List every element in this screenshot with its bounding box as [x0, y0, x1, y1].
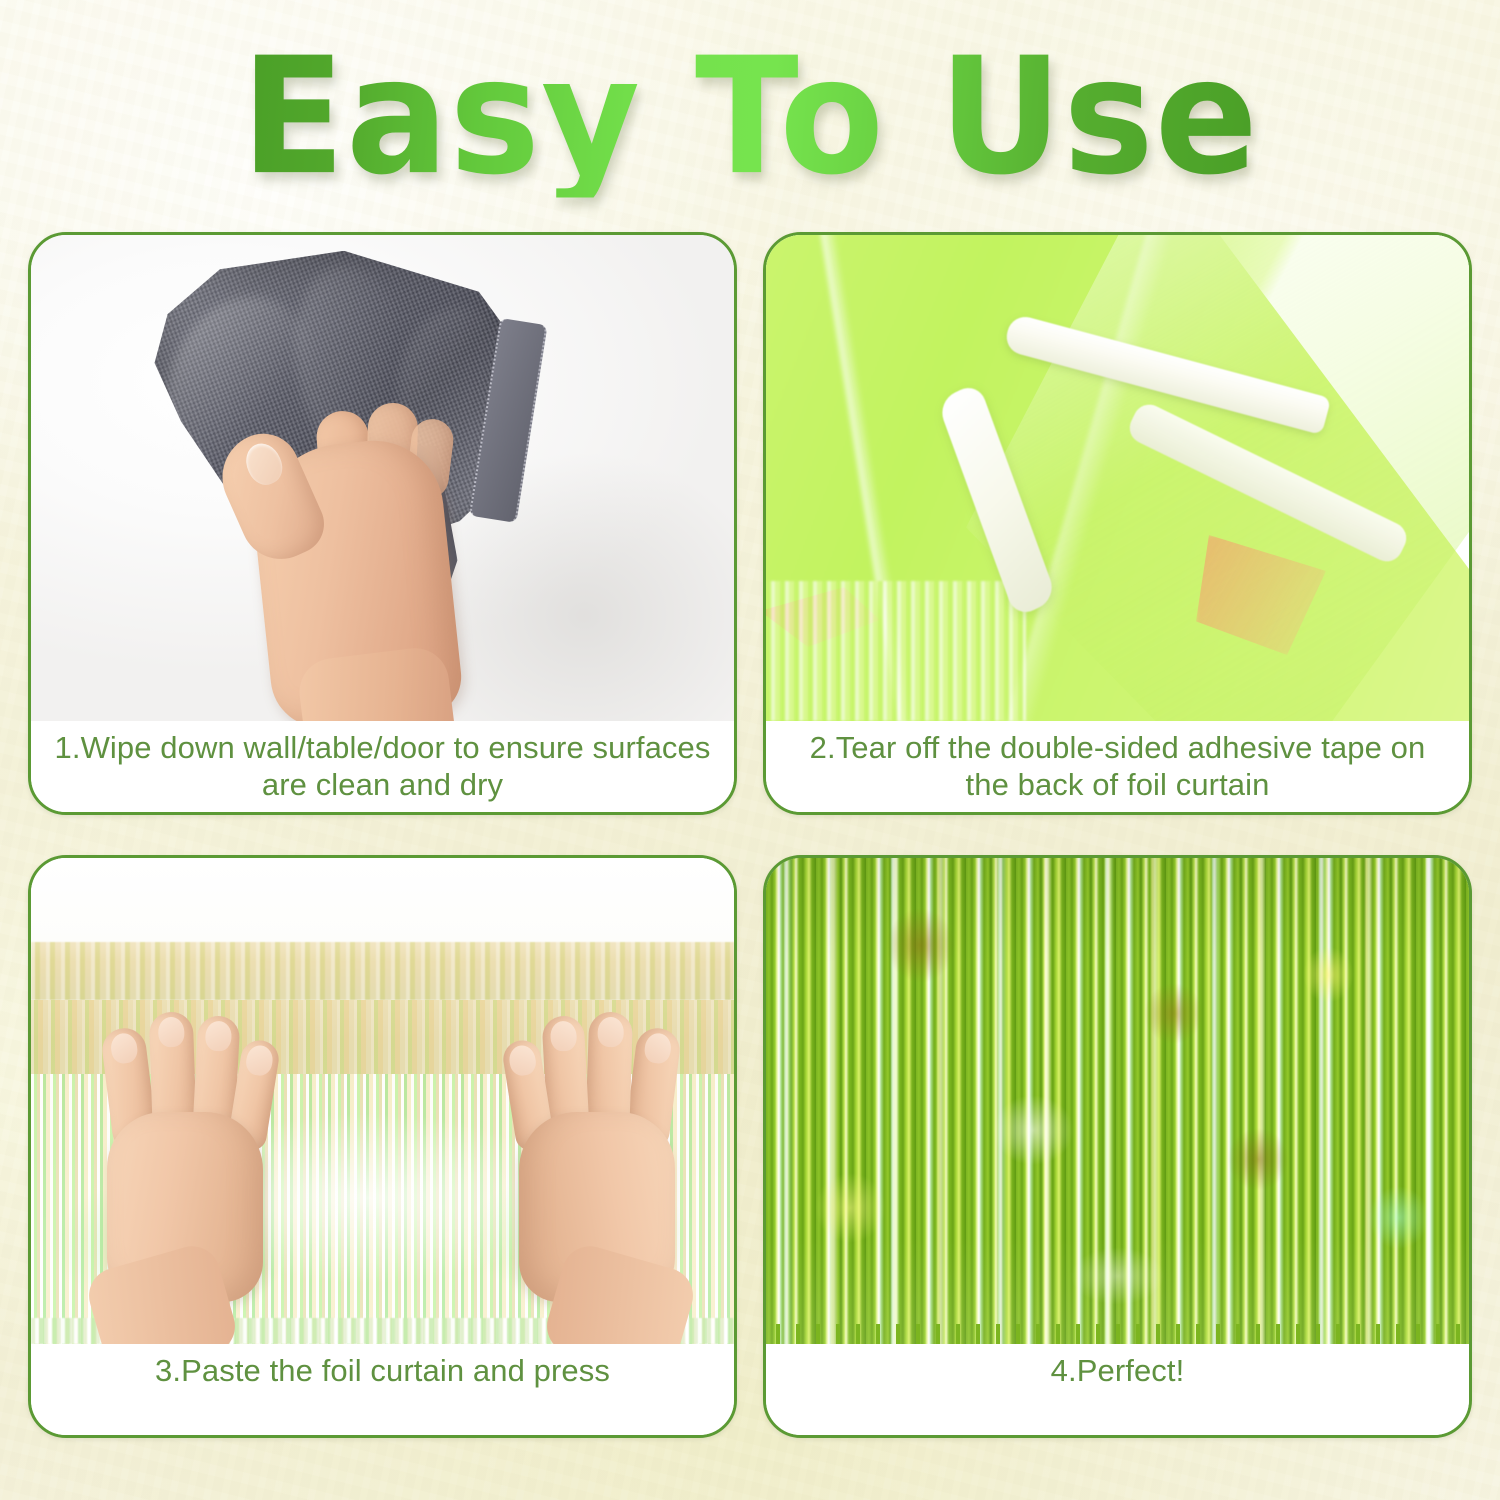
step-3-caption: 3.Paste the foil curtain and press — [31, 1344, 734, 1435]
step-1-caption-text: 1.Wipe down wall/table/door to ensure su… — [53, 730, 713, 803]
step-3-photo — [31, 858, 734, 1344]
vertical-shading — [766, 858, 1469, 1344]
step-card-3: 3.Paste the foil curtain and press — [28, 855, 737, 1438]
left-hand-icon — [89, 1006, 299, 1336]
step-1-photo — [31, 235, 734, 721]
curtain-top-band — [31, 942, 734, 1000]
step-1-caption: 1.Wipe down wall/table/door to ensure su… — [31, 721, 734, 812]
step-card-1: 1.Wipe down wall/table/door to ensure su… — [28, 232, 737, 815]
step-2-photo — [766, 235, 1469, 721]
right-hand-icon — [483, 1006, 693, 1336]
page-title: Easy To Use — [241, 36, 1259, 197]
step-2-caption-text: 2.Tear off the double-sided adhesive tap… — [788, 730, 1448, 803]
page-title-container: Easy To Use — [0, 34, 1500, 199]
step-3-caption-text: 3.Paste the foil curtain and press — [155, 1353, 610, 1390]
step-4-caption-text: 4.Perfect! — [1051, 1353, 1185, 1390]
step-4-photo — [766, 858, 1469, 1344]
white-wall — [31, 858, 734, 942]
step-2-caption: 2.Tear off the double-sided adhesive tap… — [766, 721, 1469, 812]
hand-icon — [227, 403, 527, 721]
fringe-tips — [766, 1324, 1469, 1344]
step-card-4: 4.Perfect! — [763, 855, 1472, 1438]
step-card-2: 2.Tear off the double-sided adhesive tap… — [763, 232, 1472, 815]
foil-fringe-edge — [766, 581, 1026, 721]
step-4-caption: 4.Perfect! — [766, 1344, 1469, 1435]
steps-grid: 1.Wipe down wall/table/door to ensure su… — [28, 232, 1472, 1438]
